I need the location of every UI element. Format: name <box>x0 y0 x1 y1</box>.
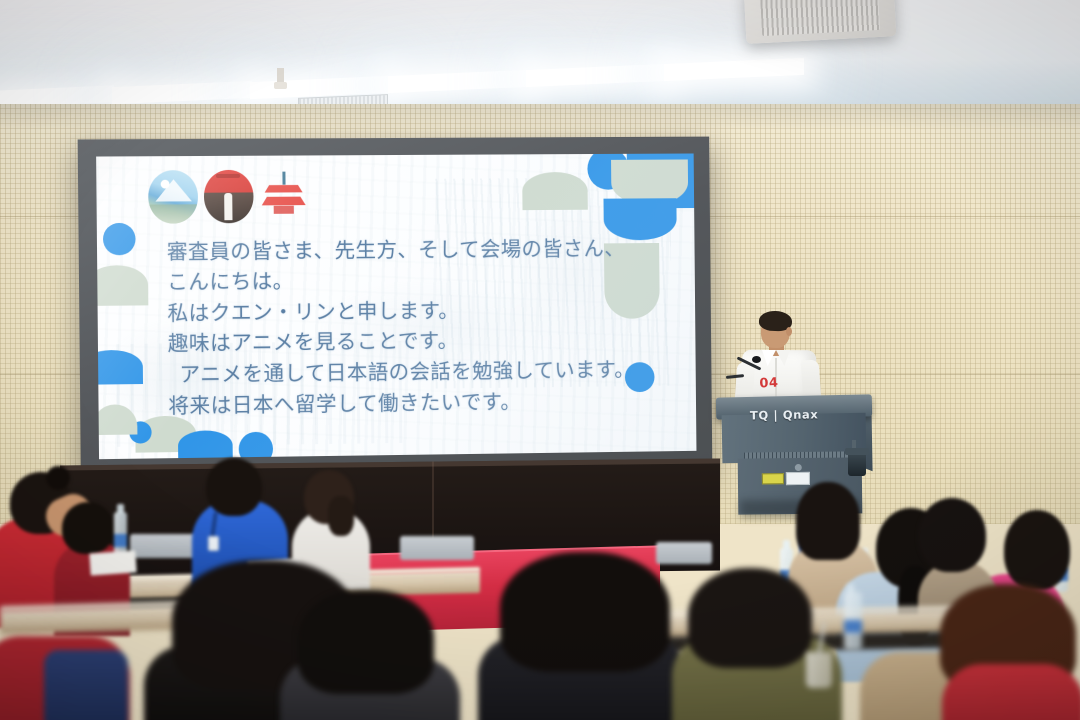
water-bottle[interactable] <box>844 592 862 650</box>
podium-sticker-yellow <box>762 473 784 484</box>
pagoda-tier <box>262 197 306 206</box>
attendee-head <box>796 482 860 560</box>
slide-decoration-arch <box>178 430 233 459</box>
bottle-label <box>844 620 862 633</box>
slide-body-text: 審査員の皆さま、先生方、そして会場の皆さん、 こんにちは。 私はクエン・リンと申… <box>167 232 670 421</box>
microphone-head-icon <box>752 356 761 363</box>
attendee-head <box>298 590 434 694</box>
ac-grill <box>760 0 880 36</box>
contestant-number-badge: 04 <box>757 374 782 392</box>
projection-screen-frame: 審査員の皆さま、先生方、そして会場の皆さん、 こんにちは。 私はクエン・リンと申… <box>78 137 713 480</box>
attendee-head <box>500 552 670 672</box>
attendee-head <box>688 568 812 668</box>
attendee-head <box>206 458 262 516</box>
attendee-head <box>1004 510 1070 590</box>
lecture-hall-photo: 審査員の皆さま、先生方、そして会場の皆さん、 こんにちは。 私はクエン・リンと申… <box>0 0 1080 720</box>
bottle-label <box>114 534 127 547</box>
sprinkler-head-icon <box>277 68 284 86</box>
torii-gate-photo <box>203 169 254 223</box>
slide-photo-row <box>148 169 309 223</box>
attendee-head <box>918 498 986 572</box>
chair-back <box>400 536 474 560</box>
attendee-backpack <box>44 650 128 720</box>
attendee-head <box>62 502 114 554</box>
pagoda-tier <box>265 185 303 193</box>
slide-decoration-arch <box>523 172 589 210</box>
attendee-hair <box>328 496 354 536</box>
slide-line-6: 将来は日本へ留学して働きたいです。 <box>168 384 669 421</box>
attendee-torso <box>942 664 1080 720</box>
notepaper[interactable] <box>89 550 136 575</box>
pagoda-base <box>274 205 294 214</box>
badge <box>208 536 219 551</box>
slide-decoration-circle <box>238 432 273 460</box>
slide-line-2: こんにちは。 <box>167 263 669 298</box>
podium-sticker-white <box>786 472 810 485</box>
pagoda-mast <box>282 171 285 185</box>
speaker-ear <box>786 327 792 336</box>
podium-knob[interactable] <box>795 464 802 471</box>
ceiling <box>0 0 1080 118</box>
projection-screen: 審査員の皆さま、先生方、そして会場の皆さん、 こんにちは。 私はクエン・リンと申… <box>96 153 696 459</box>
wall-top-shadow <box>0 104 1080 130</box>
plastic-cup[interactable] <box>806 652 832 688</box>
slide-decoration-circle <box>103 223 136 256</box>
mount-fuji-photo <box>148 170 199 224</box>
attendee-hair-bun <box>46 466 70 490</box>
podium-logo: TQ | Qnax <box>750 407 814 424</box>
slide-line-1: 審査員の皆さま、先生方、そして会場の皆さん、 <box>167 232 669 267</box>
ceiling-ac-unit <box>744 0 897 44</box>
chair-back <box>656 542 712 564</box>
pagoda-photo <box>258 169 308 222</box>
wall-mounted-camera-icon <box>848 452 866 476</box>
slide-line-5: アニメを通して日本語の会話を勉強しています。 <box>168 354 669 390</box>
